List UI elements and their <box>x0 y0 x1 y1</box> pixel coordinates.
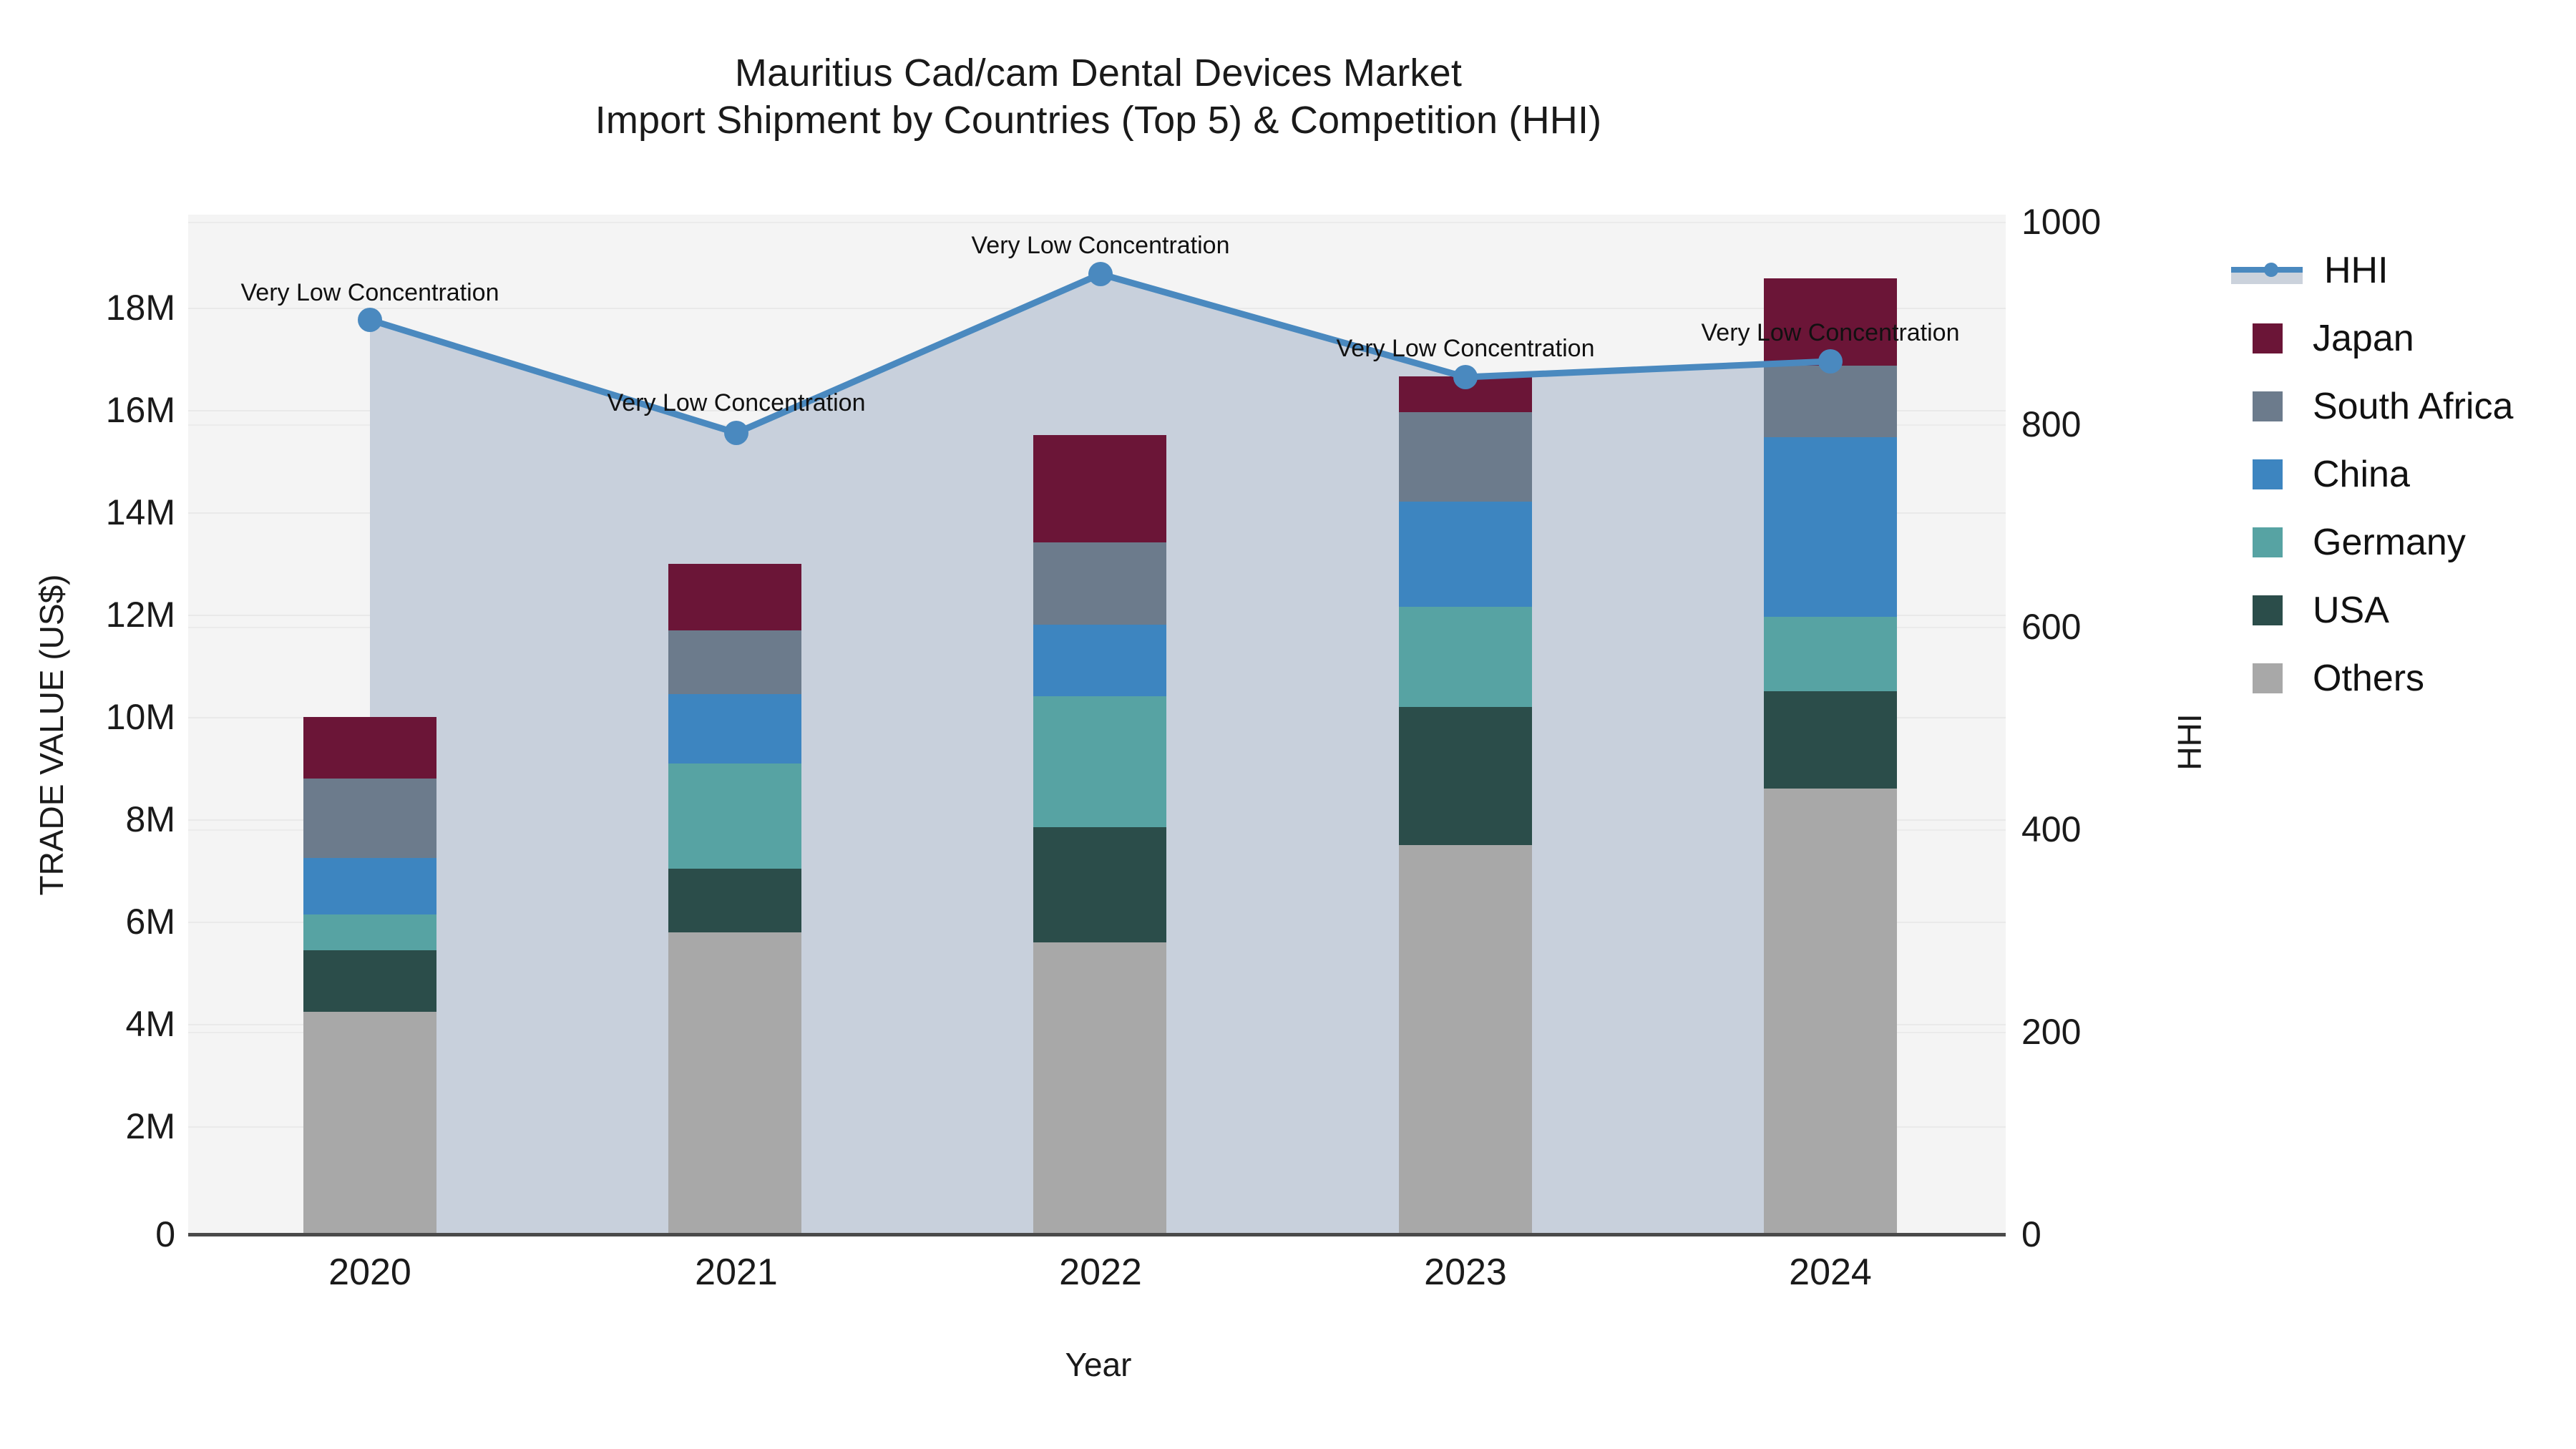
bar-segment-japan-2023[interactable] <box>1399 376 1532 412</box>
bar-segment-others-2024[interactable] <box>1764 789 1897 1234</box>
ytick-left-0: 0 <box>0 1214 175 1255</box>
legend-swatch-china <box>2253 459 2283 489</box>
legend-label-south-africa: South Africa <box>2313 385 2513 428</box>
bar-segment-germany-2020[interactable] <box>303 914 436 950</box>
bar-segment-china-2024[interactable] <box>1764 437 1897 617</box>
legend-item-germany[interactable]: Germany <box>2211 508 2569 576</box>
y-axis-label-left: TRADE VALUE (US$) <box>32 484 71 985</box>
legend-label-others: Others <box>2313 657 2424 700</box>
xtick-2020: 2020 <box>328 1251 411 1294</box>
bar-segment-japan-2021[interactable] <box>668 564 801 630</box>
plot-area: Very Low Concentration Very Low Concentr… <box>188 215 2006 1234</box>
ytick-right-600: 600 <box>2021 606 2179 648</box>
bar-2020[interactable] <box>303 717 436 1234</box>
legend: HHI Japan South Africa China Germany USA… <box>2211 236 2569 712</box>
bar-segment-others-2023[interactable] <box>1399 845 1532 1234</box>
ytick-left-2M: 2M <box>0 1106 175 1147</box>
y-axis-label-right: HHI <box>2170 670 2209 814</box>
annotation-2020: Very Low Concentration <box>241 279 499 307</box>
legend-swatch-south-africa <box>2253 391 2283 421</box>
bar-segment-usa-2023[interactable] <box>1399 707 1532 845</box>
xtick-2023: 2023 <box>1424 1251 1507 1294</box>
legend-item-hhi[interactable]: HHI <box>2211 236 2569 304</box>
legend-item-china[interactable]: China <box>2211 440 2569 508</box>
ytick-right-800: 800 <box>2021 404 2179 445</box>
annotation-2022: Very Low Concentration <box>972 232 1230 260</box>
bar-segment-others-2021[interactable] <box>668 932 801 1234</box>
x-axis-label: Year <box>0 1345 2197 1384</box>
bar-segment-china-2022[interactable] <box>1033 625 1166 696</box>
ytick-right-0: 0 <box>2021 1214 2179 1255</box>
bar-segment-south-africa-2024[interactable] <box>1764 366 1897 437</box>
bar-segment-others-2020[interactable] <box>303 1012 436 1234</box>
xtick-2024: 2024 <box>1789 1251 1872 1294</box>
ytick-right-200: 200 <box>2021 1011 2179 1053</box>
chart-title-line2: Import Shipment by Countries (Top 5) & C… <box>0 97 2197 145</box>
bar-segment-south-africa-2020[interactable] <box>303 779 436 858</box>
bar-segment-usa-2020[interactable] <box>303 950 436 1012</box>
ytick-left-14M: 14M <box>0 492 175 533</box>
legend-swatch-germany <box>2253 527 2283 557</box>
bar-segment-germany-2021[interactable] <box>668 763 801 869</box>
legend-item-japan[interactable]: Japan <box>2211 304 2569 372</box>
annotation-2023: Very Low Concentration <box>1337 335 1595 363</box>
legend-label-usa: USA <box>2313 589 2389 632</box>
ytick-left-12M: 12M <box>0 594 175 635</box>
legend-swatch-others <box>2253 663 2283 693</box>
legend-item-usa[interactable]: USA <box>2211 576 2569 644</box>
bar-2024[interactable] <box>1764 278 1897 1234</box>
ytick-left-16M: 16M <box>0 389 175 431</box>
bar-segment-china-2021[interactable] <box>668 694 801 763</box>
legend-label-hhi: HHI <box>2324 249 2389 292</box>
bar-segment-south-africa-2023[interactable] <box>1399 412 1532 502</box>
chart-title: Mauritius Cad/cam Dental Devices Market … <box>0 50 2197 145</box>
bar-segment-germany-2024[interactable] <box>1764 617 1897 691</box>
xtick-2022: 2022 <box>1059 1251 1142 1294</box>
ytick-left-18M: 18M <box>0 287 175 328</box>
bar-segment-china-2020[interactable] <box>303 858 436 914</box>
hhi-line-icon <box>2231 255 2303 286</box>
legend-item-south-africa[interactable]: South Africa <box>2211 372 2569 440</box>
x-axis-line <box>188 1233 2006 1236</box>
bar-segment-others-2022[interactable] <box>1033 942 1166 1234</box>
plot-clip <box>188 215 2006 1234</box>
ytick-left-8M: 8M <box>0 799 175 840</box>
legend-label-china: China <box>2313 453 2410 496</box>
bar-segment-germany-2022[interactable] <box>1033 696 1166 827</box>
ytick-left-10M: 10M <box>0 696 175 738</box>
bar-segment-south-africa-2021[interactable] <box>668 630 801 694</box>
annotation-2024: Very Low Concentration <box>1702 319 1960 347</box>
bar-2022[interactable] <box>1033 435 1166 1234</box>
annotation-2021: Very Low Concentration <box>608 389 866 417</box>
bar-segment-japan-2020[interactable] <box>303 717 436 779</box>
ytick-left-6M: 6M <box>0 901 175 942</box>
legend-label-japan: Japan <box>2313 317 2414 360</box>
bar-segment-japan-2022[interactable] <box>1033 435 1166 542</box>
xtick-2021: 2021 <box>695 1251 778 1294</box>
bar-segment-usa-2022[interactable] <box>1033 827 1166 942</box>
legend-item-others[interactable]: Others <box>2211 644 2569 712</box>
bar-segment-china-2023[interactable] <box>1399 502 1532 607</box>
bar-segment-south-africa-2022[interactable] <box>1033 542 1166 625</box>
legend-swatch-japan <box>2253 323 2283 353</box>
ytick-right-400: 400 <box>2021 809 2179 850</box>
legend-swatch-usa <box>2253 595 2283 625</box>
bar-2021[interactable] <box>668 564 801 1234</box>
chart-title-line1: Mauritius Cad/cam Dental Devices Market <box>0 50 2197 97</box>
ytick-right-1000: 1000 <box>2021 201 2179 243</box>
bar-2023[interactable] <box>1399 376 1532 1234</box>
ytick-left-4M: 4M <box>0 1003 175 1045</box>
legend-label-germany: Germany <box>2313 521 2466 564</box>
bar-segment-germany-2023[interactable] <box>1399 607 1532 707</box>
bar-segment-usa-2021[interactable] <box>668 869 801 932</box>
bar-segment-usa-2024[interactable] <box>1764 691 1897 789</box>
